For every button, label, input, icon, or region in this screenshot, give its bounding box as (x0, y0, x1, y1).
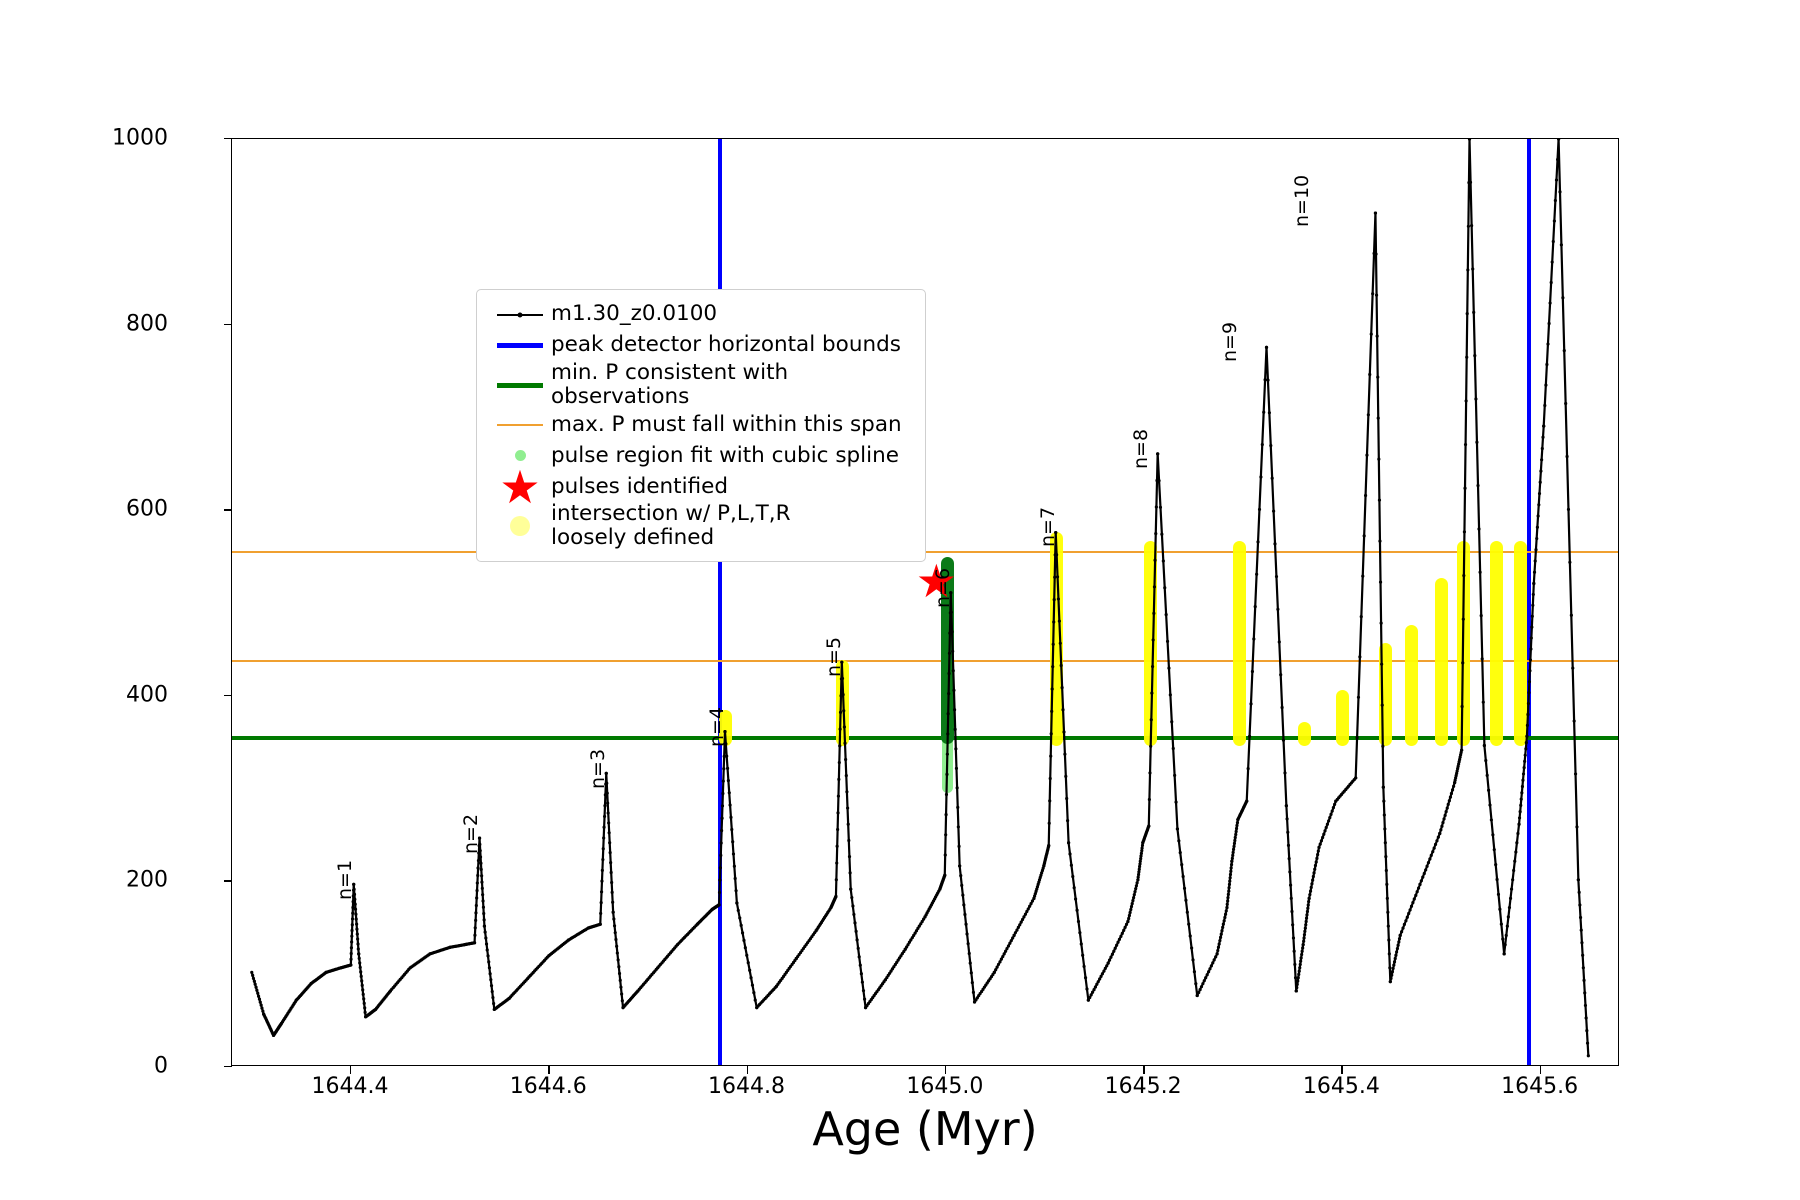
legend-item[interactable]: min. P consistent with observations (489, 361, 913, 409)
x-axis-label: Age (Myr) (231, 1102, 1619, 1156)
pulse-label-n2: n=2 (460, 814, 482, 854)
x-tick-label: 1645.2 (1105, 1074, 1182, 1099)
x-tick-mark (1341, 1066, 1342, 1074)
pulse-label-n8: n=8 (1130, 428, 1152, 468)
legend-item-label: pulse region fit with cubic spline (551, 444, 899, 468)
x-tick-mark (1143, 1066, 1144, 1074)
y-tick-label: 400 (126, 682, 168, 707)
y-tick-label: 800 (126, 311, 168, 336)
legend-star-icon: ★ (489, 473, 551, 501)
x-tick-mark (548, 1066, 549, 1074)
legend-item[interactable]: max. P must fall within this span (489, 409, 913, 440)
legend-item[interactable]: peak detector horizontal bounds (489, 330, 913, 361)
legend-item-label: pulses identified (551, 475, 728, 499)
plot-area[interactable]: ★ n=1n=2n=3n=4n=5n=6n=7n=8n=9n=10 m1.30_… (231, 138, 1619, 1066)
pulse-label-n6: n=6 (932, 568, 954, 608)
x-tick-mark (1540, 1066, 1541, 1074)
legend-item-label: min. P consistent with observations (551, 361, 913, 409)
legend-item-label: m1.30_z0.0100 (551, 302, 717, 326)
legend-item[interactable]: pulse region fit with cubic spline (489, 440, 913, 471)
legend-item[interactable]: ★pulses identified (489, 471, 913, 502)
x-tick-mark (350, 1066, 351, 1074)
y-tick-label: 200 (126, 868, 168, 893)
x-tick-label: 1645.4 (1303, 1074, 1380, 1099)
pulse-label-n3: n=3 (587, 749, 609, 789)
data-curve (232, 139, 1618, 1065)
y-tick-label: 0 (154, 1054, 168, 1079)
y-tick-mark (224, 1066, 232, 1067)
legend-line-marker-icon (489, 301, 551, 329)
figure-canvas: FM period (days) 02004006008001000 1644.… (0, 0, 1800, 1200)
x-tick-mark (945, 1066, 946, 1074)
x-tick-label: 1644.6 (510, 1074, 587, 1099)
pulse-label-n9: n=9 (1219, 322, 1241, 362)
pulse-label-n7: n=7 (1037, 507, 1059, 547)
pulse-label-n10: n=10 (1291, 175, 1313, 227)
legend[interactable]: m1.30_z0.0100peak detector horizontal bo… (476, 289, 926, 562)
legend-dot-icon (489, 512, 551, 540)
legend-line-icon (489, 411, 551, 439)
x-tick-label: 1644.4 (311, 1074, 388, 1099)
legend-item-label: max. P must fall within this span (551, 413, 902, 437)
x-tick-mark (747, 1066, 748, 1074)
pulse-label-n4: n=4 (706, 707, 728, 747)
x-tick-label: 1644.8 (708, 1074, 785, 1099)
legend-item-label: peak detector horizontal bounds (551, 333, 901, 357)
x-tick-label: 1645.0 (906, 1074, 983, 1099)
legend-item[interactable]: m1.30_z0.0100 (489, 299, 913, 330)
y-tick-label: 1000 (112, 126, 168, 151)
legend-item[interactable]: intersection w/ P,L,T,R loosely defined (489, 502, 913, 550)
pulse-label-n5: n=5 (823, 637, 845, 677)
legend-item-label: intersection w/ P,L,T,R loosely defined (551, 502, 791, 550)
pulse-label-n1: n=1 (334, 860, 356, 900)
y-tick-label: 600 (126, 497, 168, 522)
legend-line-icon (489, 371, 551, 399)
x-tick-label: 1645.6 (1501, 1074, 1578, 1099)
legend-line-icon (489, 332, 551, 360)
